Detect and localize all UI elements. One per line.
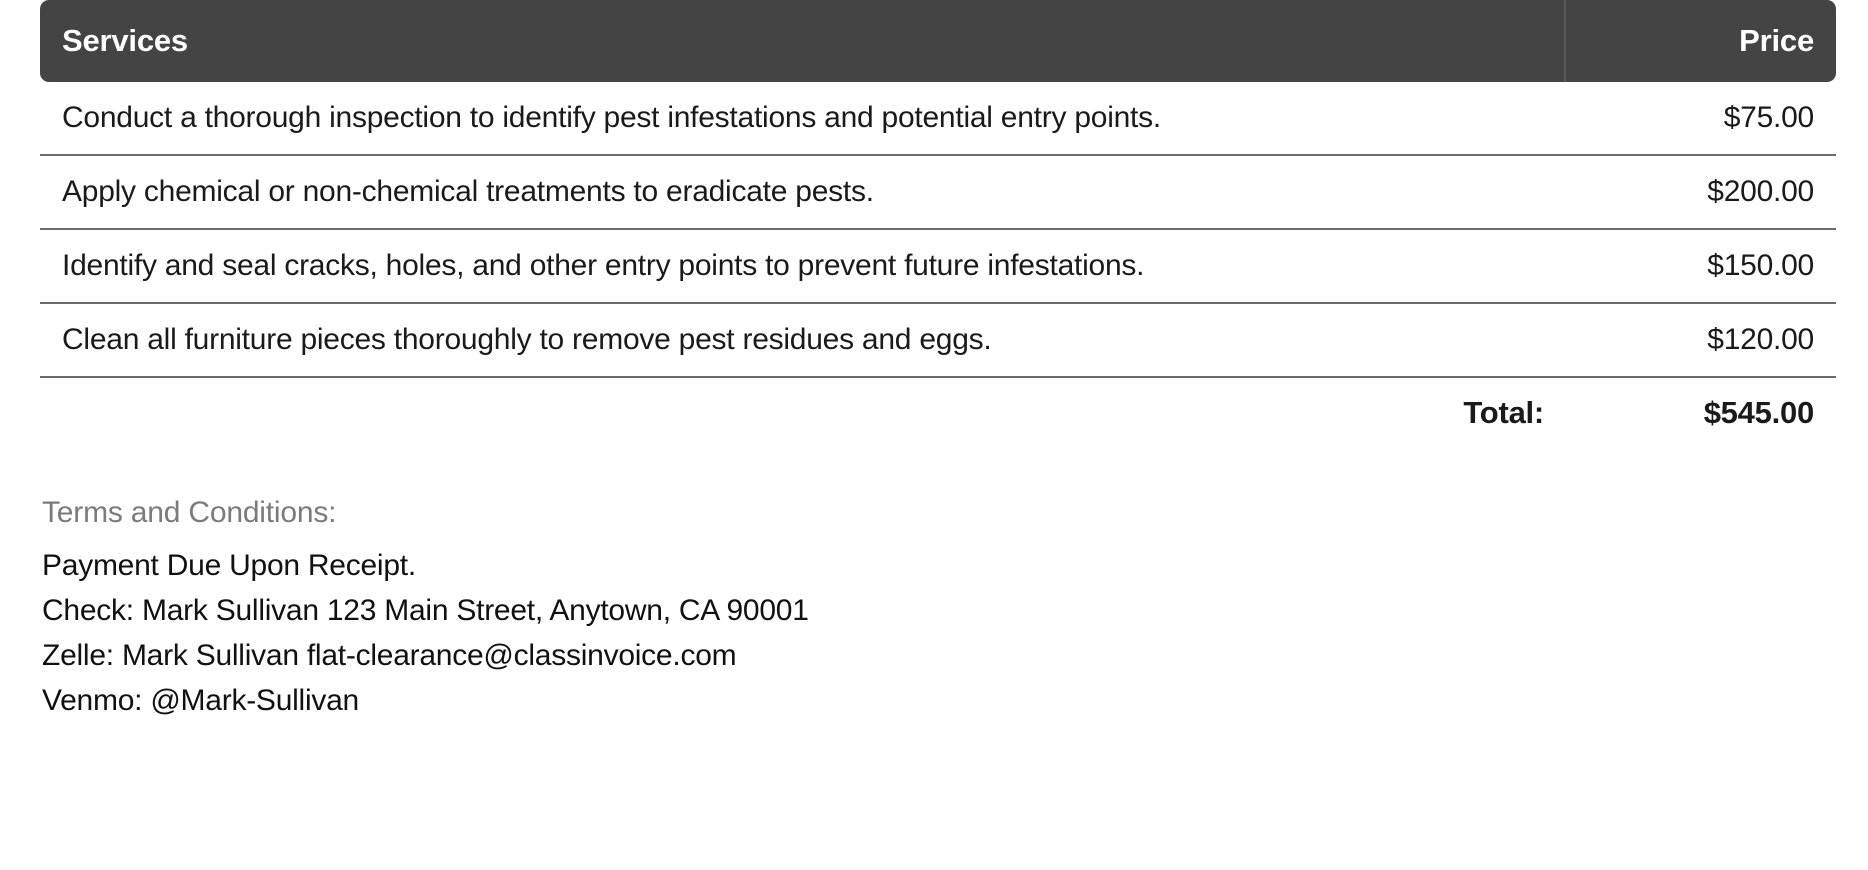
table-row: Identify and seal cracks, holes, and oth… bbox=[40, 230, 1836, 304]
total-value: $545.00 bbox=[1566, 378, 1836, 448]
service-description: Identify and seal cracks, holes, and oth… bbox=[40, 230, 1566, 304]
service-description: Clean all furniture pieces thoroughly to… bbox=[40, 304, 1566, 378]
service-price: $120.00 bbox=[1566, 304, 1836, 378]
table-header: Services Price bbox=[40, 0, 1836, 82]
table-body: Conduct a thorough inspection to identif… bbox=[40, 82, 1836, 448]
service-description: Apply chemical or non-chemical treatment… bbox=[40, 156, 1566, 230]
terms-line-zelle: Zelle: Mark Sullivan flat-clearance@clas… bbox=[42, 633, 1836, 678]
column-header-services: Services bbox=[40, 0, 1566, 82]
invoice-page: Services Price Conduct a thorough inspec… bbox=[0, 0, 1868, 870]
service-description: Conduct a thorough inspection to identif… bbox=[40, 82, 1566, 156]
services-price-table: Services Price Conduct a thorough inspec… bbox=[40, 0, 1836, 448]
table-row: Conduct a thorough inspection to identif… bbox=[40, 82, 1836, 156]
terms-line-payment-due: Payment Due Upon Receipt. bbox=[42, 543, 1836, 588]
total-row: Total: $545.00 bbox=[40, 378, 1836, 448]
table-row: Clean all furniture pieces thoroughly to… bbox=[40, 304, 1836, 378]
terms-line-venmo: Venmo: @Mark-Sullivan bbox=[42, 678, 1836, 723]
terms-and-conditions-section: Terms and Conditions: Payment Due Upon R… bbox=[40, 496, 1836, 723]
service-price: $200.00 bbox=[1566, 156, 1836, 230]
total-label: Total: bbox=[40, 378, 1566, 448]
table-header-row: Services Price bbox=[40, 0, 1836, 82]
column-header-price: Price bbox=[1566, 0, 1836, 82]
service-price: $150.00 bbox=[1566, 230, 1836, 304]
terms-line-check: Check: Mark Sullivan 123 Main Street, An… bbox=[42, 588, 1836, 633]
table-row: Apply chemical or non-chemical treatment… bbox=[40, 156, 1836, 230]
terms-title: Terms and Conditions: bbox=[42, 496, 1836, 530]
service-price: $75.00 bbox=[1566, 82, 1836, 156]
